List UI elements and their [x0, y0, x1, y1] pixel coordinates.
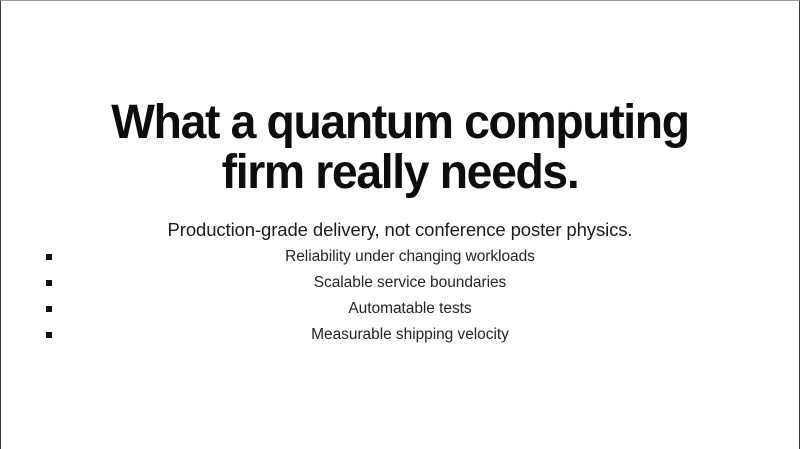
square-bullet-icon — [46, 280, 52, 286]
list-item-label: Measurable shipping velocity — [311, 322, 509, 348]
presentation-slide: What a quantum computing firm really nee… — [0, 0, 800, 449]
list-item-label: Automatable tests — [348, 296, 471, 322]
slide-subtitle: Production-grade delivery, not conferenc… — [1, 218, 799, 242]
square-bullet-icon — [46, 332, 52, 338]
list-item: Scalable service boundaries — [1, 270, 799, 296]
list-item: Reliability under changing workloads — [1, 244, 799, 270]
bullet-list: Reliability under changing workloads Sca… — [1, 244, 799, 348]
list-item-label: Scalable service boundaries — [314, 270, 507, 296]
square-bullet-icon — [46, 306, 52, 312]
page-title: What a quantum computing firm really nee… — [1, 98, 799, 198]
list-item-label: Reliability under changing workloads — [285, 244, 535, 270]
title-line-2: firm really needs. — [48, 148, 752, 198]
title-line-1: What a quantum computing — [48, 98, 752, 148]
square-bullet-icon — [46, 254, 52, 260]
list-item: Measurable shipping velocity — [1, 322, 799, 348]
list-item: Automatable tests — [1, 296, 799, 322]
